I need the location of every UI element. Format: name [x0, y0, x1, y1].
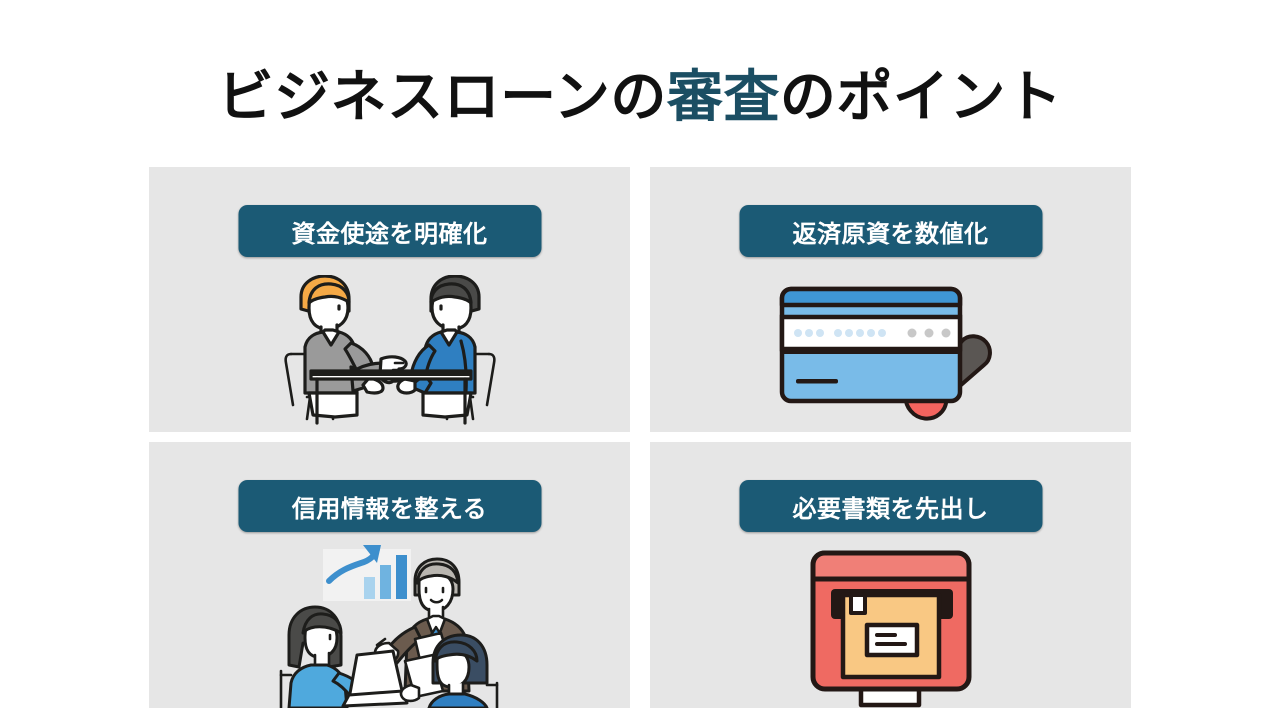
card-label-pill-3[interactable]: 信用情報を整える	[238, 480, 541, 532]
card-label-text-4: 必要書類を先出し	[793, 489, 989, 524]
card-shinyo-joho[interactable]: 信用情報を整える	[149, 442, 630, 708]
two-people-meeting-at-table-icon	[265, 275, 515, 425]
chart-bar-2	[380, 565, 391, 599]
illustration-two-people-meeting	[149, 267, 630, 432]
card-hensai-gensi[interactable]: 返済原資を数値化	[650, 167, 1131, 432]
bankbook-and-hanko-stamp-icon	[766, 275, 1016, 425]
envelope-address-label	[867, 625, 917, 655]
card-label-pill-4[interactable]: 必要書類を先出し	[739, 480, 1042, 532]
card-label-text-1: 資金使途を明確化	[292, 214, 488, 249]
card-shikin-shito[interactable]: 資金使途を明確化	[149, 167, 630, 432]
card-label-text-2: 返済原資を数値化	[793, 214, 989, 249]
card-label-text-3: 信用情報を整える	[292, 489, 487, 524]
page-title-highlight: 審査	[667, 65, 780, 128]
mailbox-lid	[813, 553, 969, 579]
points-card-grid: 資金使途を明確化	[149, 167, 1131, 708]
illustration-presentation-growth-chart	[149, 542, 630, 708]
business-presentation-with-growth-chart-icon	[265, 543, 515, 708]
chart-bar-3	[396, 555, 407, 599]
bankbook	[782, 289, 960, 401]
mailbox-with-envelope-icon	[791, 543, 991, 708]
card-label-pill-2[interactable]: 返済原資を数値化	[739, 205, 1042, 257]
card-hitsuyo-shorui[interactable]: 必要書類を先出し	[650, 442, 1131, 708]
card-label-pill-1[interactable]: 資金使途を明確化	[238, 205, 541, 257]
page-title-prefix: ビジネスローンの	[218, 65, 667, 128]
page-title: ビジネスローンの審査のポイント	[0, 64, 1280, 130]
chart-bar-1	[364, 577, 375, 599]
envelope	[843, 595, 939, 677]
envelope-stamp	[851, 595, 865, 613]
illustration-bankbook-hanko	[650, 267, 1131, 432]
seated-man	[401, 633, 497, 708]
page-title-suffix: のポイント	[780, 65, 1063, 128]
illustration-mailbox-envelope	[650, 542, 1131, 708]
